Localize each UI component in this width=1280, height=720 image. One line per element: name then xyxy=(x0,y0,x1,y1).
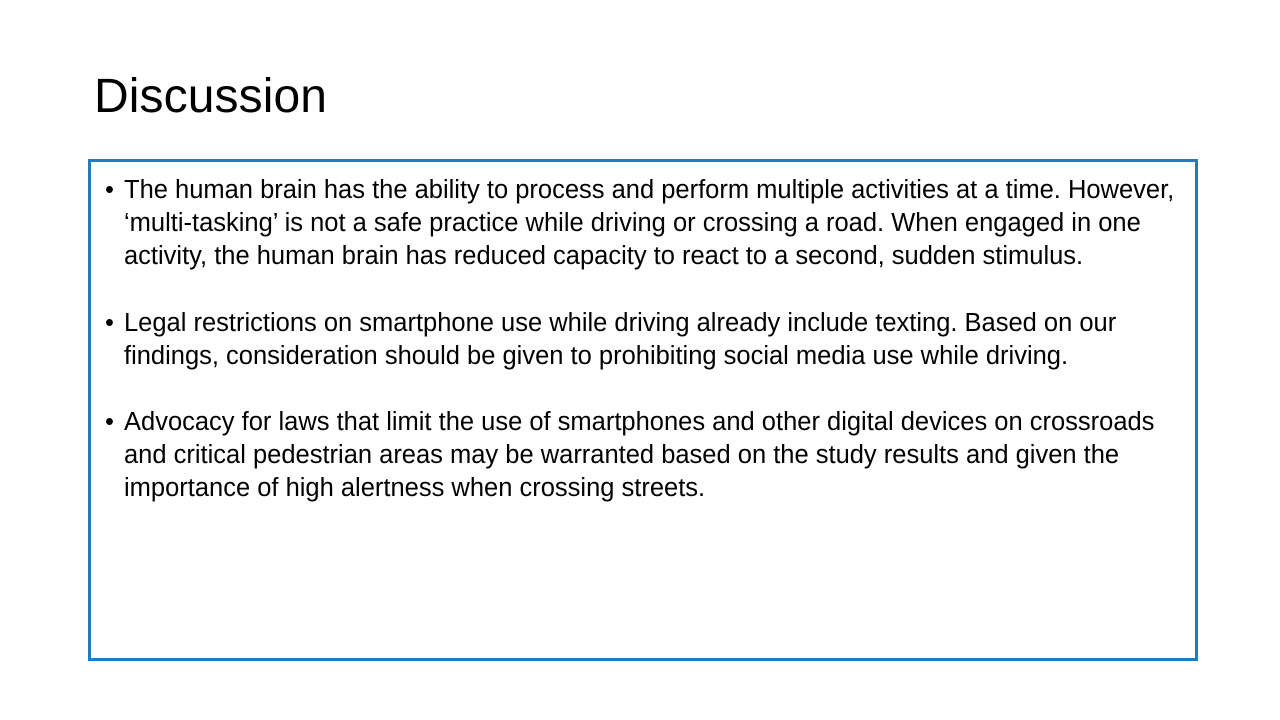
presentation-slide: Discussion • The human brain has the abi… xyxy=(0,0,1280,720)
list-item-text: Advocacy for laws that limit the use of … xyxy=(124,406,1191,506)
list-item-text: The human brain has the ability to proce… xyxy=(124,174,1191,274)
content-text-box[interactable]: • The human brain has the ability to pro… xyxy=(88,159,1198,661)
bullet-list: • The human brain has the ability to pro… xyxy=(91,162,1195,506)
list-item[interactable]: • Advocacy for laws that limit the use o… xyxy=(99,406,1191,506)
bullet-point-icon: • xyxy=(105,174,114,207)
list-item[interactable]: • Legal restrictions on smartphone use w… xyxy=(99,307,1191,373)
bullet-point-icon: • xyxy=(105,307,114,340)
list-item[interactable]: • The human brain has the ability to pro… xyxy=(99,174,1191,274)
bullet-point-icon: • xyxy=(105,406,114,439)
page-title: Discussion xyxy=(94,68,1194,126)
list-item-text: Legal restrictions on smartphone use whi… xyxy=(124,307,1191,373)
